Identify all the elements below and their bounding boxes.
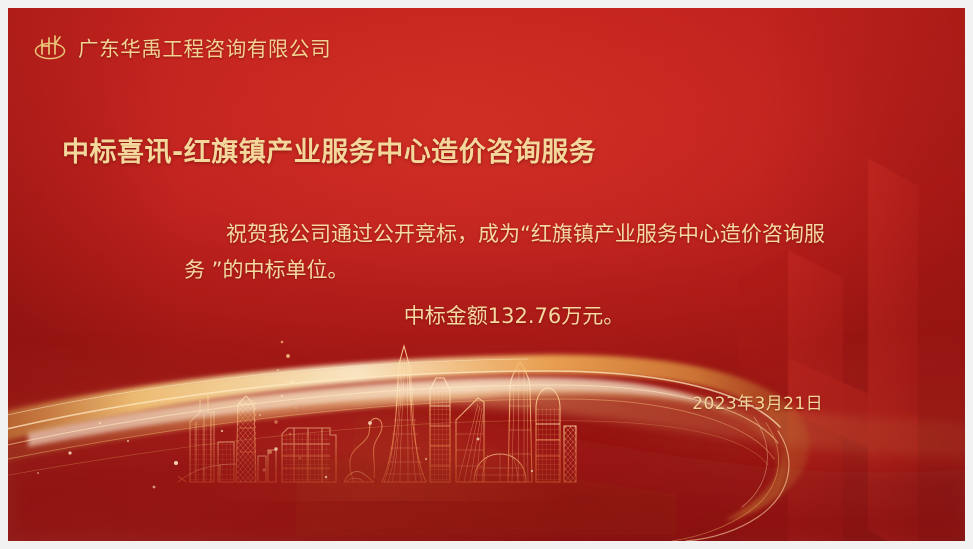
- brand-header: 广东华禹工程咨询有限公司: [33, 32, 331, 62]
- page-title: 中标喜讯-红旗镇产业服务中心造价咨询服务: [62, 130, 596, 169]
- company-name: 广东华禹工程咨询有限公司: [78, 32, 331, 62]
- award-amount: 中标金额132.76万元。: [184, 300, 844, 330]
- announcement-body: 祝贺我公司通过公开竞标，成为“红旗镇产业服务中心造价咨询服务 ”的中标单位。: [184, 216, 844, 288]
- announcement-paragraph: 祝贺我公司通过公开竞标，成为“红旗镇产业服务中心造价咨询服务 ”的中标单位。: [184, 216, 844, 288]
- announcement-poster: 广东华禹工程咨询有限公司 中标喜讯-红旗镇产业服务中心造价咨询服务 祝贺我公司通…: [8, 8, 965, 541]
- hy-monogram-logo-icon: [33, 33, 67, 61]
- announcement-date: 2023年3月21日: [692, 389, 823, 414]
